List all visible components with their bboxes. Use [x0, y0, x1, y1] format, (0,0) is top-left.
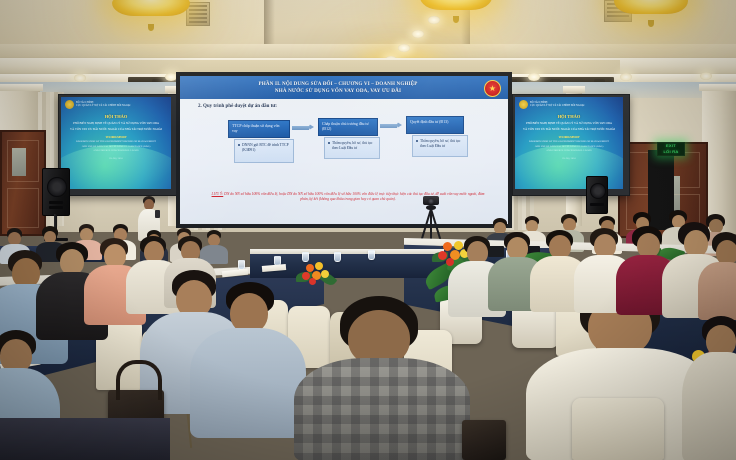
- flow-arrow-2: [380, 122, 402, 129]
- handheld-phone: [155, 210, 160, 218]
- flow-subbox-3: Thẩm quyền, hồ sơ, thủ tục theo Luật Đầu…: [412, 135, 468, 157]
- attendee-left-front-2: [202, 282, 294, 432]
- bullet-icon: [328, 142, 330, 144]
- exit-sign-label-vi: LỐI RA: [658, 149, 684, 155]
- water-glass-8: [334, 252, 341, 262]
- flow-arrow-1: [292, 124, 314, 131]
- attendee-right-edge: [688, 316, 736, 460]
- side-line-vi-2: VÀ VỐN VAY ƯU ĐÃI NƯỚC NGOÀI CỦA NHÀ TÀI…: [61, 125, 171, 131]
- main-projection-screen: PHẦN II. NỘI DUNG SỬA ĐỔI – CHƯƠNG VI – …: [180, 76, 508, 224]
- recessed-downlight-9: [700, 72, 712, 80]
- side-org-line2: CỤC QUẢN LÝ NỢ VÀ TÀI CHÍNH ĐỐI NGOẠI: [530, 104, 584, 107]
- pendant-lamp-right-back: [614, 0, 688, 22]
- side-line-vi-2: VÀ VỐN VAY ƯU ĐÃI NƯỚC NGOÀI CỦA NHÀ TÀI…: [515, 125, 623, 131]
- flower-centerpiece-1: [296, 262, 336, 288]
- flow-box-2: Chấp thuận chủ trương đầu tư (Đ12): [318, 118, 378, 136]
- slide-title-line2: NHÀ NƯỚC SỬ DỤNG VỐN VAY ODA, VAY ƯU ĐÃI: [275, 88, 401, 94]
- flow-box-1-label: TTCP chấp thuận sử dụng vốn vay: [229, 121, 289, 136]
- pa-loudspeaker-left: [42, 168, 70, 216]
- camera-lens-icon: [428, 198, 434, 204]
- side-org-line2: CỤC QUẢN LÝ NỢ VÀ TÀI CHÍNH ĐỐI NGOẠI: [76, 104, 130, 107]
- flow-subbox-1: DNNN gửi BTC đề trình TTCP (K3Đ91): [234, 139, 294, 163]
- pendant-lamp-left: [112, 0, 190, 26]
- attendee-foreground-plaid: [300, 296, 460, 460]
- recessed-downlight-2: [412, 30, 424, 38]
- bag-secondary[interactable]: [462, 420, 506, 460]
- pa-loudspeaker-right: [586, 176, 608, 214]
- flow-subbox-2: Thẩm quyền, hồ sơ, thủ tục theo Luật Đầu…: [324, 137, 380, 159]
- flow-subbox-2-label: Thẩm quyền, hồ sơ, thủ tục theo Luật Đầu…: [325, 138, 379, 154]
- emblem-star-glyph: ★: [489, 85, 496, 93]
- chair-foreground-white[interactable]: [572, 398, 664, 460]
- flow-box-3-label: Quyết định đầu tư (Đ13): [407, 117, 463, 127]
- side-line-en-1: DISSEMINATION OF THE GOVERNMENT DECREE O…: [515, 139, 623, 144]
- water-glass-7: [302, 252, 309, 262]
- vietnam-national-emblem-icon: ★: [484, 80, 501, 97]
- recessed-downlight-7: [528, 73, 540, 81]
- flow-box-3: Quyết định đầu tư (Đ13): [406, 116, 464, 134]
- flower: [438, 251, 447, 260]
- recessed-downlight-3: [398, 44, 410, 52]
- slide-header: PHẦN II. NỘI DUNG SỬA ĐỔI – CHƯƠNG VI – …: [180, 76, 508, 99]
- recessed-downlight-8: [620, 73, 632, 81]
- slide-title-line1: PHẦN II. NỘI DUNG SỬA ĐỔI – CHƯƠNG VI – …: [258, 81, 417, 87]
- bag-strap: [116, 360, 162, 400]
- side-screen-right-frame: BỘ TÀI CHÍNH CỤC QUẢN LÝ NỢ VÀ TÀI CHÍNH…: [512, 94, 630, 196]
- recessed-downlight-5: [74, 74, 86, 82]
- slide-note: LƯU Ý: DN do NN sở hữu 100% vốn điều lệ,…: [208, 192, 488, 202]
- bullet-icon: [416, 140, 418, 142]
- conference-table-back-top: [250, 249, 450, 254]
- plaid-shirt-torso: [294, 358, 470, 460]
- side-screen-left-frame: BỘ TÀI CHÍNH CỤC QUẢN LÝ NỢ VÀ TÀI CHÍNH…: [58, 94, 178, 196]
- flower: [306, 264, 314, 272]
- wooden-door-left[interactable]: [0, 130, 46, 236]
- attendee-right-7: [702, 232, 736, 316]
- flow-subbox-3-label: Thẩm quyền, hồ sơ, thủ tục theo Luật Đầu…: [413, 136, 467, 152]
- slide-note-prefix: LƯU Ý:: [212, 192, 224, 196]
- side-line-en-1: DISSEMINATION OF THE GOVERNMENT DECREE O…: [61, 139, 171, 144]
- side-line-vi-1: PHỔ BIẾN NGHỊ ĐỊNH VỀ QUẢN LÝ VÀ SỬ DỤNG…: [515, 119, 623, 125]
- recessed-downlight-1: [428, 16, 440, 24]
- flow-subbox-1-label: DNNN gửi BTC đề trình TTCP (K3Đ91): [235, 140, 293, 156]
- slide-note-text: DN do NN sở hữu 100% vốn điều lệ, hoặc D…: [223, 192, 484, 201]
- conference-room-photo: EXIT LỐI RA BỘ TÀI CHÍNH CỤC QUẢN LÝ NỢ …: [0, 0, 736, 460]
- slide-section-heading: 2. Quy trình phê duyệt dự án đầu tư:: [198, 104, 277, 109]
- flower: [309, 278, 316, 285]
- ministry-logo-icon: [519, 100, 528, 109]
- flower: [315, 262, 323, 270]
- door-panel-lower: [7, 188, 39, 228]
- door-glass: [12, 148, 26, 176]
- side-line-vi-1: PHỔ BIẾN NGHỊ ĐỊNH VỀ QUẢN LÝ VÀ SỬ DỤNG…: [61, 119, 171, 125]
- flow-box-1: TTCP chấp thuận sử dụng vốn vay: [228, 120, 290, 138]
- carpet-floor: [0, 418, 170, 460]
- bullet-icon: [238, 144, 240, 146]
- flow-box-2-label: Chấp thuận chủ trương đầu tư (Đ12): [319, 119, 377, 134]
- flower: [321, 270, 329, 278]
- exit-sign: EXIT LỐI RA: [657, 142, 685, 156]
- flower: [443, 242, 452, 251]
- ministry-logo-icon: [65, 100, 74, 109]
- water-glass-9: [368, 250, 375, 260]
- side-screen-left: BỘ TÀI CHÍNH CỤC QUẢN LÝ NỢ VÀ TÀI CHÍNH…: [61, 97, 171, 189]
